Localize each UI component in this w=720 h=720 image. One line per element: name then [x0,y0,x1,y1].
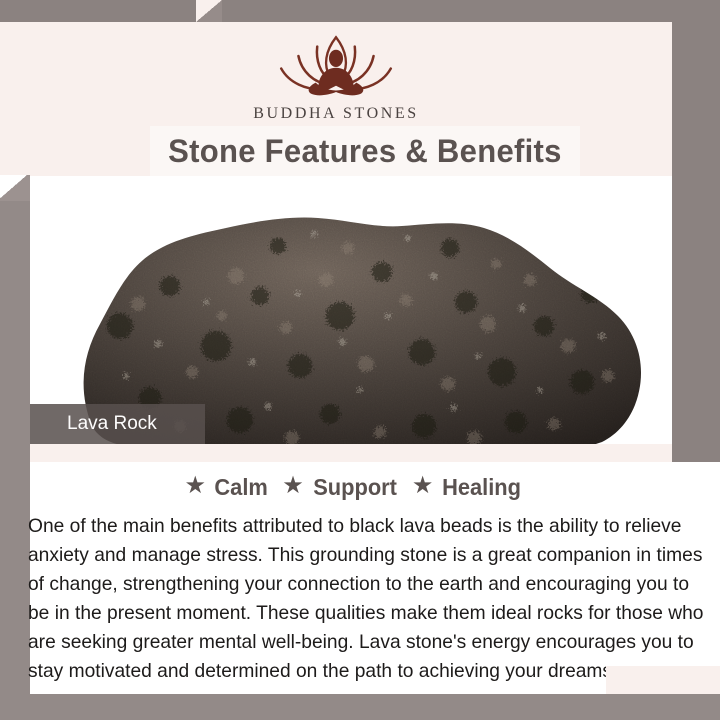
divider-strip [30,444,672,462]
benefit-item: ★ Support [282,474,399,501]
star-icon: ★ [412,474,434,498]
benefit-item: ★ Calm [184,474,269,501]
star-icon: ★ [282,474,304,498]
bottom-frame-border [0,694,720,720]
poster-frame: BUDDHA STONES Stone Features & Benefits [0,0,720,720]
description-text: One of the main benefits attributed to b… [28,507,710,686]
benefit-label-calm: Calm [214,474,267,501]
photo-caption-label: Lava Rock [30,413,157,435]
title-banner: Stone Features & Benefits [150,126,580,176]
page-title: Stone Features & Benefits [168,133,562,170]
bottom-right-accent [606,666,720,694]
benefit-label-healing: Healing [443,474,522,501]
left-bevel-accent [0,175,30,201]
description-panel: ★ Calm ★ Support ★ Healing One of the ma… [30,462,720,694]
benefit-label-support: Support [313,474,397,501]
benefit-item: ★ Healing [412,474,524,501]
benefits-row: ★ Calm ★ Support ★ Healing [30,467,720,507]
lotus-meditation-icon [256,31,416,103]
brand-name: BUDDHA STONES [253,105,419,123]
photo-caption-bar: Lava Rock [30,404,205,444]
brand-logo: BUDDHA STONES [0,22,672,132]
top-bevel-accent [196,0,222,22]
star-icon: ★ [184,474,206,498]
left-frame-border [0,175,30,720]
